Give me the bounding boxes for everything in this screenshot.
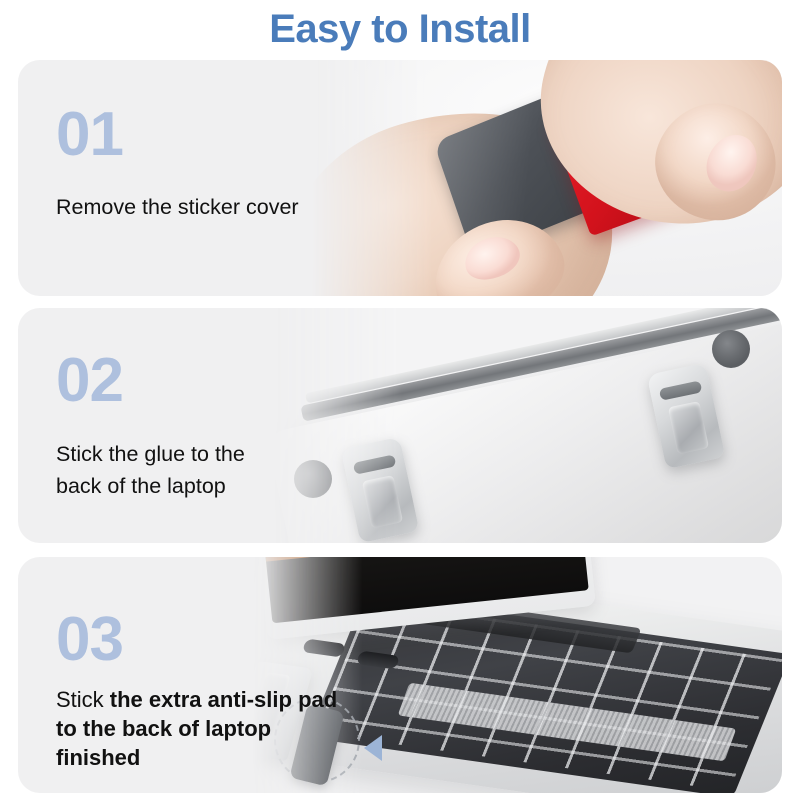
step-card-03: 03 Stick the extra anti-slip pad to the …	[18, 557, 782, 793]
step-02-text-block: 02 Stick the glue to the back of the lap…	[56, 350, 245, 502]
step-02-number: 02	[56, 350, 245, 412]
step-card-02: 02 Stick the glue to the back of the lap…	[18, 308, 782, 543]
step-01-text-block: 01 Remove the sticker cover	[56, 104, 299, 222]
step-03-caption-lead: Stick	[56, 687, 110, 712]
anti-slip-dot-right	[712, 330, 750, 368]
step-01-number: 01	[56, 104, 299, 166]
step-03-text-block: 03 Stick the extra anti-slip pad to the …	[56, 609, 337, 772]
page-title: Easy to Install	[0, 0, 800, 56]
desktop-wallpaper	[261, 557, 582, 562]
step-card-01: 01 Remove the sticker cover 3M	[18, 60, 782, 296]
step-03-number: 03	[56, 609, 337, 671]
callout-arrow-icon	[364, 735, 382, 761]
step-02-caption: Stick the glue to the back of the laptop	[56, 438, 245, 502]
anti-slip-dot-left	[294, 460, 332, 498]
step-03-caption: Stick the extra anti-slip pad to the bac…	[56, 685, 337, 772]
step-02-photo	[272, 308, 782, 543]
step-01-caption: Remove the sticker cover	[56, 192, 299, 222]
step-01-photo: 3M	[312, 60, 782, 296]
